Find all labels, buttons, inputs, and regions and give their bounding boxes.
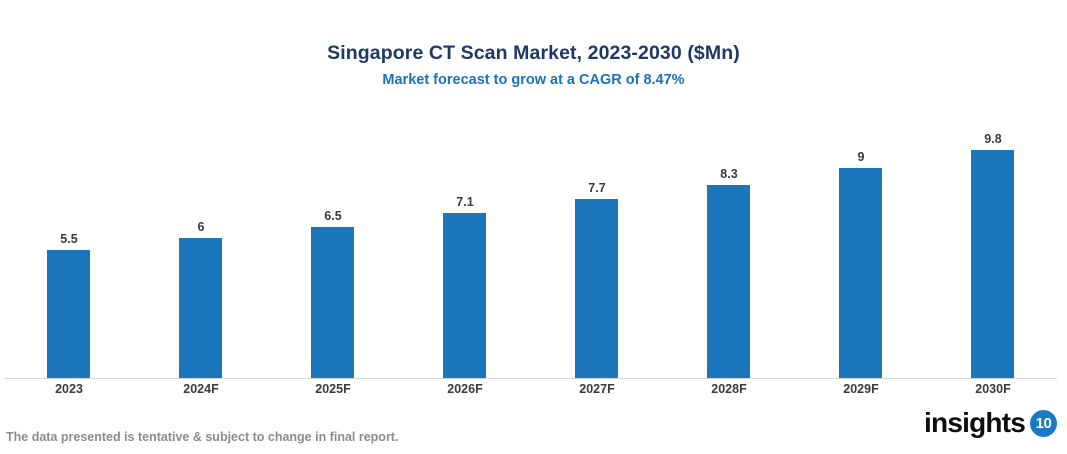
x-axis-tick-label: 2026F [399,381,531,397]
bar-group: 6.5 2025F [267,0,399,454]
insights10-logo: insights 10 [924,406,1057,440]
bar[interactable] [179,238,222,378]
bar-value-label: 6.5 [267,209,399,223]
bar-value-label: 6 [135,220,267,234]
bar-value-label: 9 [795,150,927,164]
bar-value-label: 9.8 [927,132,1059,146]
plot-area: 5.5 2023 6 2024F 6.5 2025F 7.1 2026F 7.7… [0,0,1067,454]
bar-group: 9.8 2030F [927,0,1059,454]
logo-wordmark: insights [924,409,1025,437]
bar[interactable] [971,150,1014,378]
bar-value-label: 5.5 [3,232,135,246]
x-axis-tick-label: 2025F [267,381,399,397]
bar-value-label: 7.1 [399,195,531,209]
bar[interactable] [707,185,750,378]
bar-group: 5.5 2023 [3,0,135,454]
x-axis-tick-label: 2028F [663,381,795,397]
bar[interactable] [47,250,90,378]
bar[interactable] [443,213,486,378]
bar[interactable] [575,199,618,378]
bar-group: 6 2024F [135,0,267,454]
bar-group: 7.1 2026F [399,0,531,454]
bar[interactable] [311,227,354,378]
x-axis-tick-label: 2024F [135,381,267,397]
x-axis-tick-label: 2023 [3,381,135,397]
x-axis-tick-label: 2030F [927,381,1059,397]
bar-group: 7.7 2027F [531,0,663,454]
x-axis-tick-label: 2027F [531,381,663,397]
chart-container: Singapore CT Scan Market, 2023-2030 ($Mn… [0,0,1067,454]
bar[interactable] [839,168,882,378]
logo-badge-icon: 10 [1030,410,1057,437]
bar-group: 8.3 2028F [663,0,795,454]
x-axis-tick-label: 2029F [795,381,927,397]
bar-value-label: 7.7 [531,181,663,195]
bar-group: 9 2029F [795,0,927,454]
bar-value-label: 8.3 [663,167,795,181]
disclaimer-text: The data presented is tentative & subjec… [6,429,398,445]
